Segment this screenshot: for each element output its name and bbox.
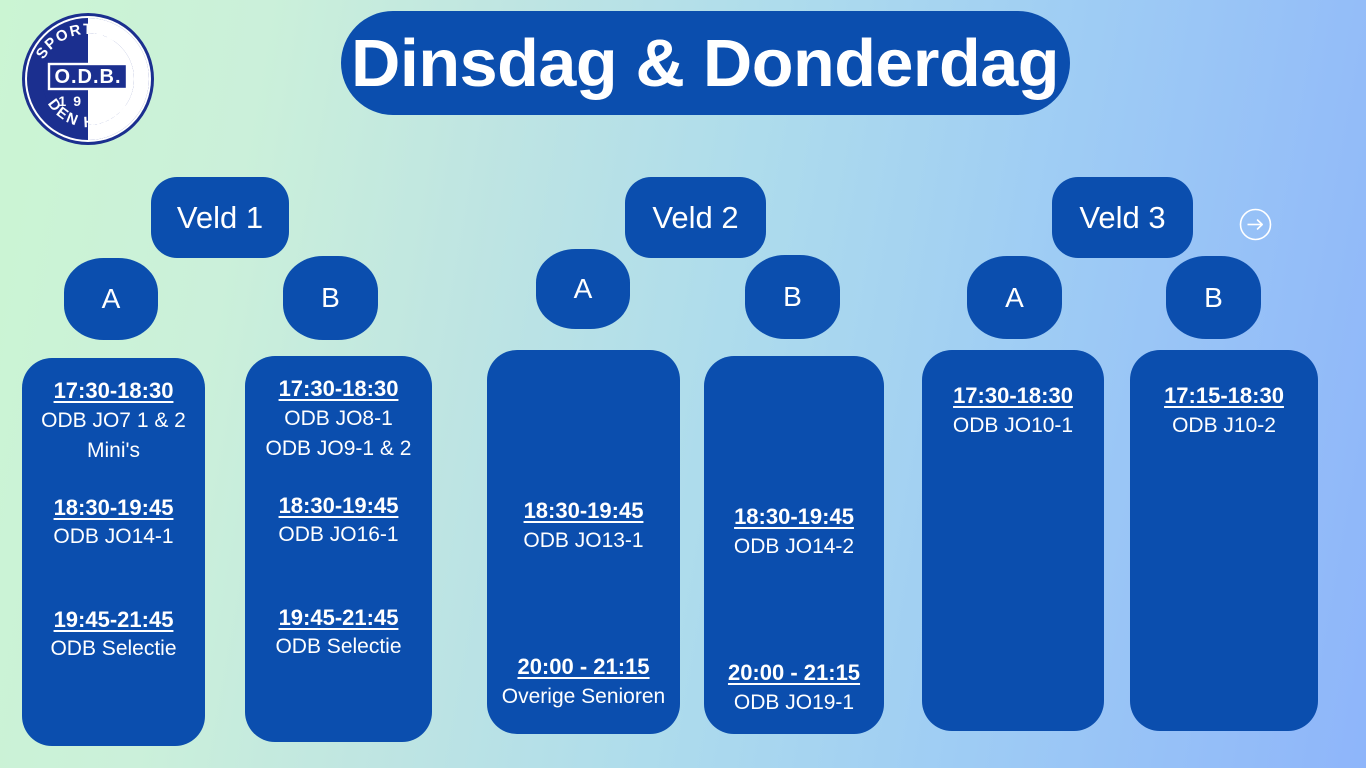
slot-time: 18:30-19:45 xyxy=(30,493,197,523)
slot-group: 19:45-21:45 ODB Selectie xyxy=(253,603,424,663)
side-badge-label: A xyxy=(1005,282,1024,314)
slot-team: ODB JO19-1 xyxy=(712,688,876,718)
slot-team: ODB JO13-1 xyxy=(495,526,672,556)
field-label-veld-3[interactable]: Veld 3 xyxy=(1052,177,1193,258)
slot-team: ODB Selectie xyxy=(30,634,197,664)
field-label-text: Veld 2 xyxy=(652,200,738,236)
schedule-card-veld2-a[interactable]: 18:30-19:45 ODB JO13-1 20:00 - 21:15 Ove… xyxy=(487,350,680,734)
schedule-card-veld1-a[interactable]: 17:30-18:30 ODB JO7 1 & 2 Mini's 18:30-1… xyxy=(22,358,205,746)
arrow-right-circle-icon[interactable] xyxy=(1239,208,1272,241)
slot-team: Mini's xyxy=(30,436,197,466)
svg-text:O.D.B.: O.D.B. xyxy=(54,66,121,88)
slot-team: ODB JO7 1 & 2 xyxy=(30,406,197,436)
slot-team: ODB JO16-1 xyxy=(253,520,424,550)
slot-time: 20:00 - 21:15 xyxy=(495,652,672,682)
side-badge-veld2-a[interactable]: A xyxy=(536,249,630,329)
side-badge-label: B xyxy=(321,282,340,314)
slot-time: 17:30-18:30 xyxy=(930,381,1096,411)
schedule-card-veld2-b[interactable]: 18:30-19:45 ODB JO14-2 20:00 - 21:15 ODB… xyxy=(704,356,884,734)
slot-group: 17:30-18:30 ODB JO7 1 & 2 Mini's xyxy=(30,376,197,467)
slot-team: ODB JO10-1 xyxy=(930,411,1096,441)
slot-time: 19:45-21:45 xyxy=(253,603,424,633)
schedule-card-veld3-b[interactable]: 17:15-18:30 ODB J10-2 xyxy=(1130,350,1318,731)
slot-group: 20:00 - 21:15 ODB JO19-1 xyxy=(712,658,876,718)
slot-team: ODB Selectie xyxy=(253,632,424,662)
svg-text:1935: 1935 xyxy=(58,93,117,109)
slot-time: 18:30-19:45 xyxy=(495,496,672,526)
slot-time: 18:30-19:45 xyxy=(253,491,424,521)
slot-team: ODB J10-2 xyxy=(1138,411,1310,441)
side-badge-veld1-a[interactable]: A xyxy=(64,258,158,340)
field-label-veld-2[interactable]: Veld 2 xyxy=(625,177,766,258)
slot-time: 17:15-18:30 xyxy=(1138,381,1310,411)
slot-group: 18:30-19:45 ODB JO13-1 xyxy=(495,496,672,556)
slot-group: 17:30-18:30 ODB JO8-1 ODB JO9-1 & 2 xyxy=(253,374,424,465)
slot-time: 17:30-18:30 xyxy=(30,376,197,406)
slot-group: 18:30-19:45 ODB JO14-1 xyxy=(30,493,197,553)
slot-group: 17:30-18:30 ODB JO10-1 xyxy=(930,381,1096,441)
slot-team: Overige Senioren xyxy=(495,682,672,712)
field-label-text: Veld 1 xyxy=(177,200,263,236)
slot-team: ODB JO9-1 & 2 xyxy=(253,434,424,464)
side-badge-veld3-b[interactable]: B xyxy=(1166,256,1261,339)
side-badge-veld3-a[interactable]: A xyxy=(967,256,1062,339)
slot-group: 20:00 - 21:15 Overige Senioren xyxy=(495,652,672,712)
slot-time: 18:30-19:45 xyxy=(712,502,876,532)
side-badge-veld1-b[interactable]: B xyxy=(283,256,378,340)
side-badge-label: A xyxy=(574,273,593,305)
slot-team: ODB JO14-1 xyxy=(30,522,197,552)
side-badge-veld2-b[interactable]: B xyxy=(745,255,840,339)
side-badge-label: B xyxy=(783,281,802,313)
slot-group: 19:45-21:45 ODB Selectie xyxy=(30,605,197,665)
slot-time: 19:45-21:45 xyxy=(30,605,197,635)
page-title: Dinsdag & Donderdag xyxy=(352,30,1060,97)
side-badge-label: B xyxy=(1204,282,1223,314)
club-logo: SPORTCLUB DEN HAAG O.D.B. 1935 xyxy=(13,12,163,146)
slot-team: ODB JO14-2 xyxy=(712,532,876,562)
field-label-veld-1[interactable]: Veld 1 xyxy=(151,177,289,258)
slot-time: 17:30-18:30 xyxy=(253,374,424,404)
field-label-text: Veld 3 xyxy=(1079,200,1165,236)
slot-group: 18:30-19:45 ODB JO14-2 xyxy=(712,502,876,562)
schedule-card-veld3-a[interactable]: 17:30-18:30 ODB JO10-1 xyxy=(922,350,1104,731)
slot-group: 18:30-19:45 ODB JO16-1 xyxy=(253,491,424,551)
slot-group: 17:15-18:30 ODB J10-2 xyxy=(1138,381,1310,441)
training-schedule-poster: SPORTCLUB DEN HAAG O.D.B. 1935 Dinsdag &… xyxy=(0,0,1366,768)
slot-time: 20:00 - 21:15 xyxy=(712,658,876,688)
slot-team: ODB JO8-1 xyxy=(253,404,424,434)
schedule-card-veld1-b[interactable]: 17:30-18:30 ODB JO8-1 ODB JO9-1 & 2 18:3… xyxy=(245,356,432,742)
side-badge-label: A xyxy=(102,283,121,315)
page-title-banner: Dinsdag & Donderdag xyxy=(341,11,1070,115)
